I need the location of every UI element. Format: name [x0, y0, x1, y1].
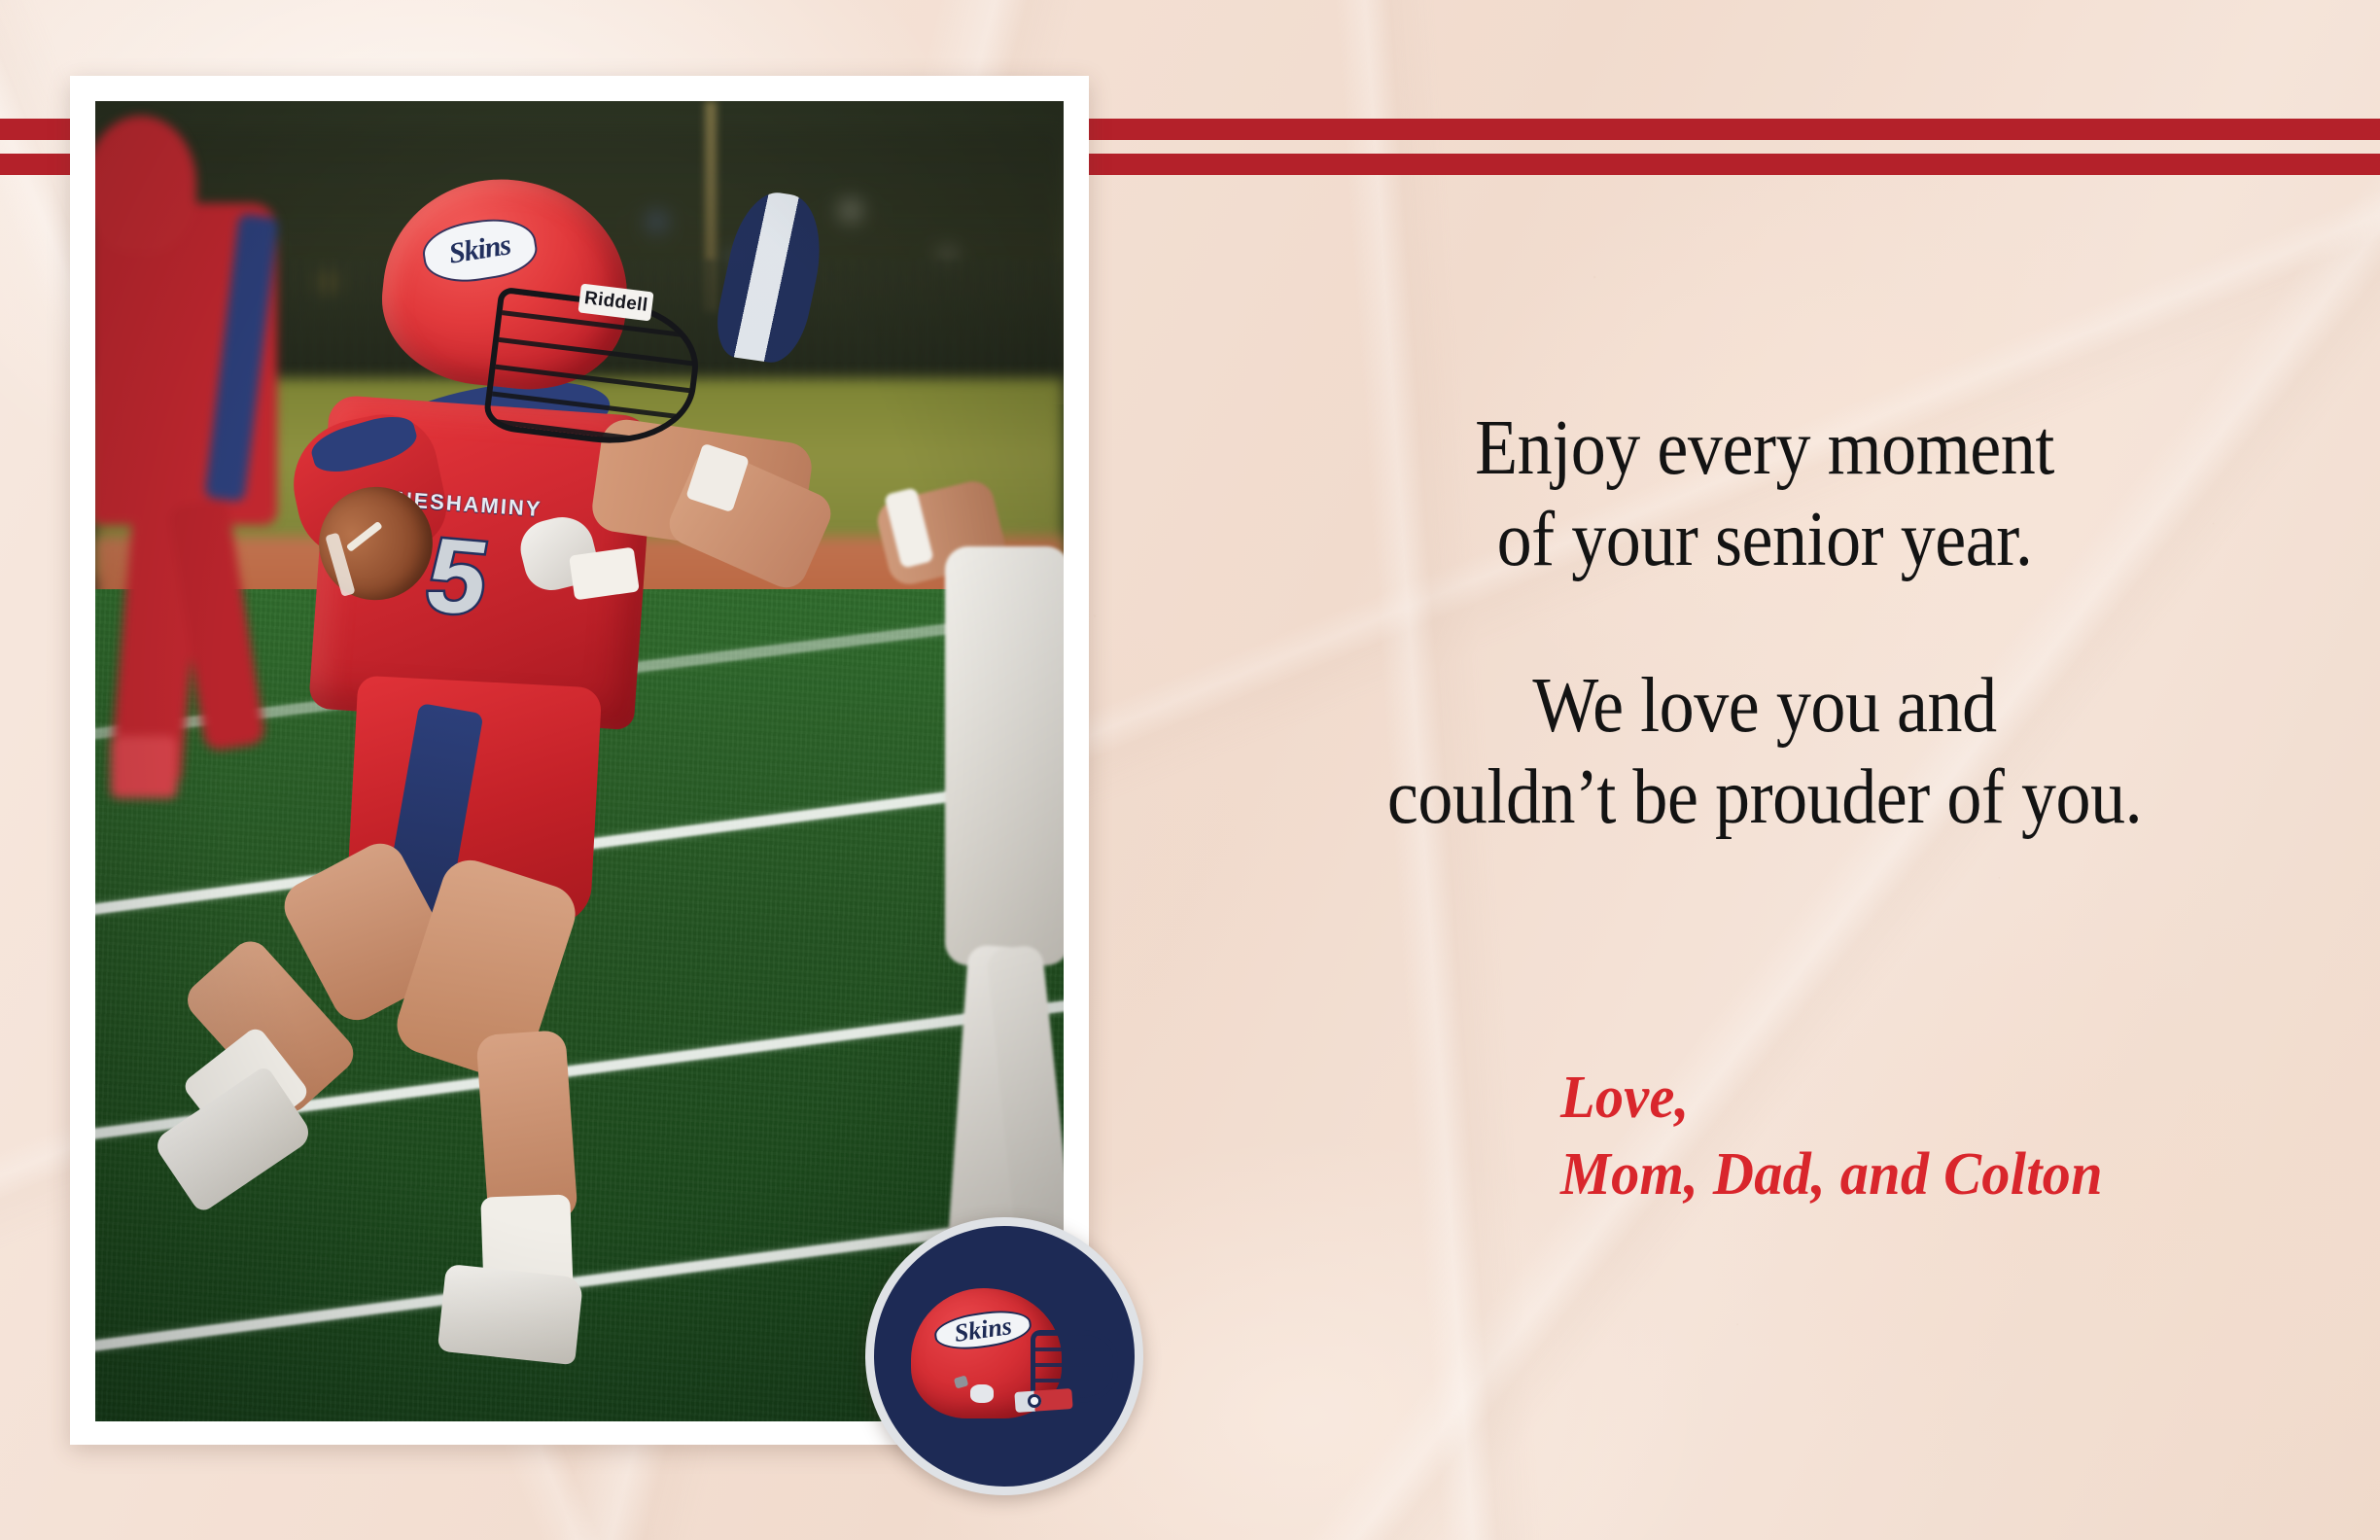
badge-earhole: [970, 1384, 994, 1403]
signature-line-1: Love,: [1560, 1060, 2380, 1137]
signature-line-2: Mom, Dad, and Colton: [1560, 1137, 2380, 1213]
message-paragraph-gap: [1262, 585, 2268, 661]
photo-main-player: NESHAMINY 5 Skins Riddell: [173, 167, 987, 1421]
signature-block: Love, Mom, Dad, and Colton: [1560, 1060, 2380, 1214]
message-line-2: of your senior year.: [1262, 495, 2268, 586]
message-line-1: Enjoy every moment: [1262, 403, 2268, 495]
helmet-stripe: [709, 188, 832, 367]
player-photo: NESHAMINY 5 Skins Riddell: [95, 101, 1064, 1421]
team-helmet-badge: Skins: [865, 1217, 1143, 1495]
senior-tribute-card: NESHAMINY 5 Skins Riddell: [0, 0, 2380, 1540]
football-laces: [346, 521, 383, 552]
badge-chinstrap-snap: [1028, 1394, 1040, 1407]
badge-chinstrap: [1014, 1388, 1072, 1413]
player-left-wristband: [569, 546, 640, 600]
message-line-3: We love you and: [1262, 661, 2268, 752]
tribute-message: Enjoy every moment of your senior year. …: [1262, 403, 2268, 843]
teammate-cleat: [111, 736, 176, 798]
player-right-cleat: [437, 1264, 583, 1366]
message-line-4: couldn’t be prouder of you.: [1262, 752, 2268, 844]
